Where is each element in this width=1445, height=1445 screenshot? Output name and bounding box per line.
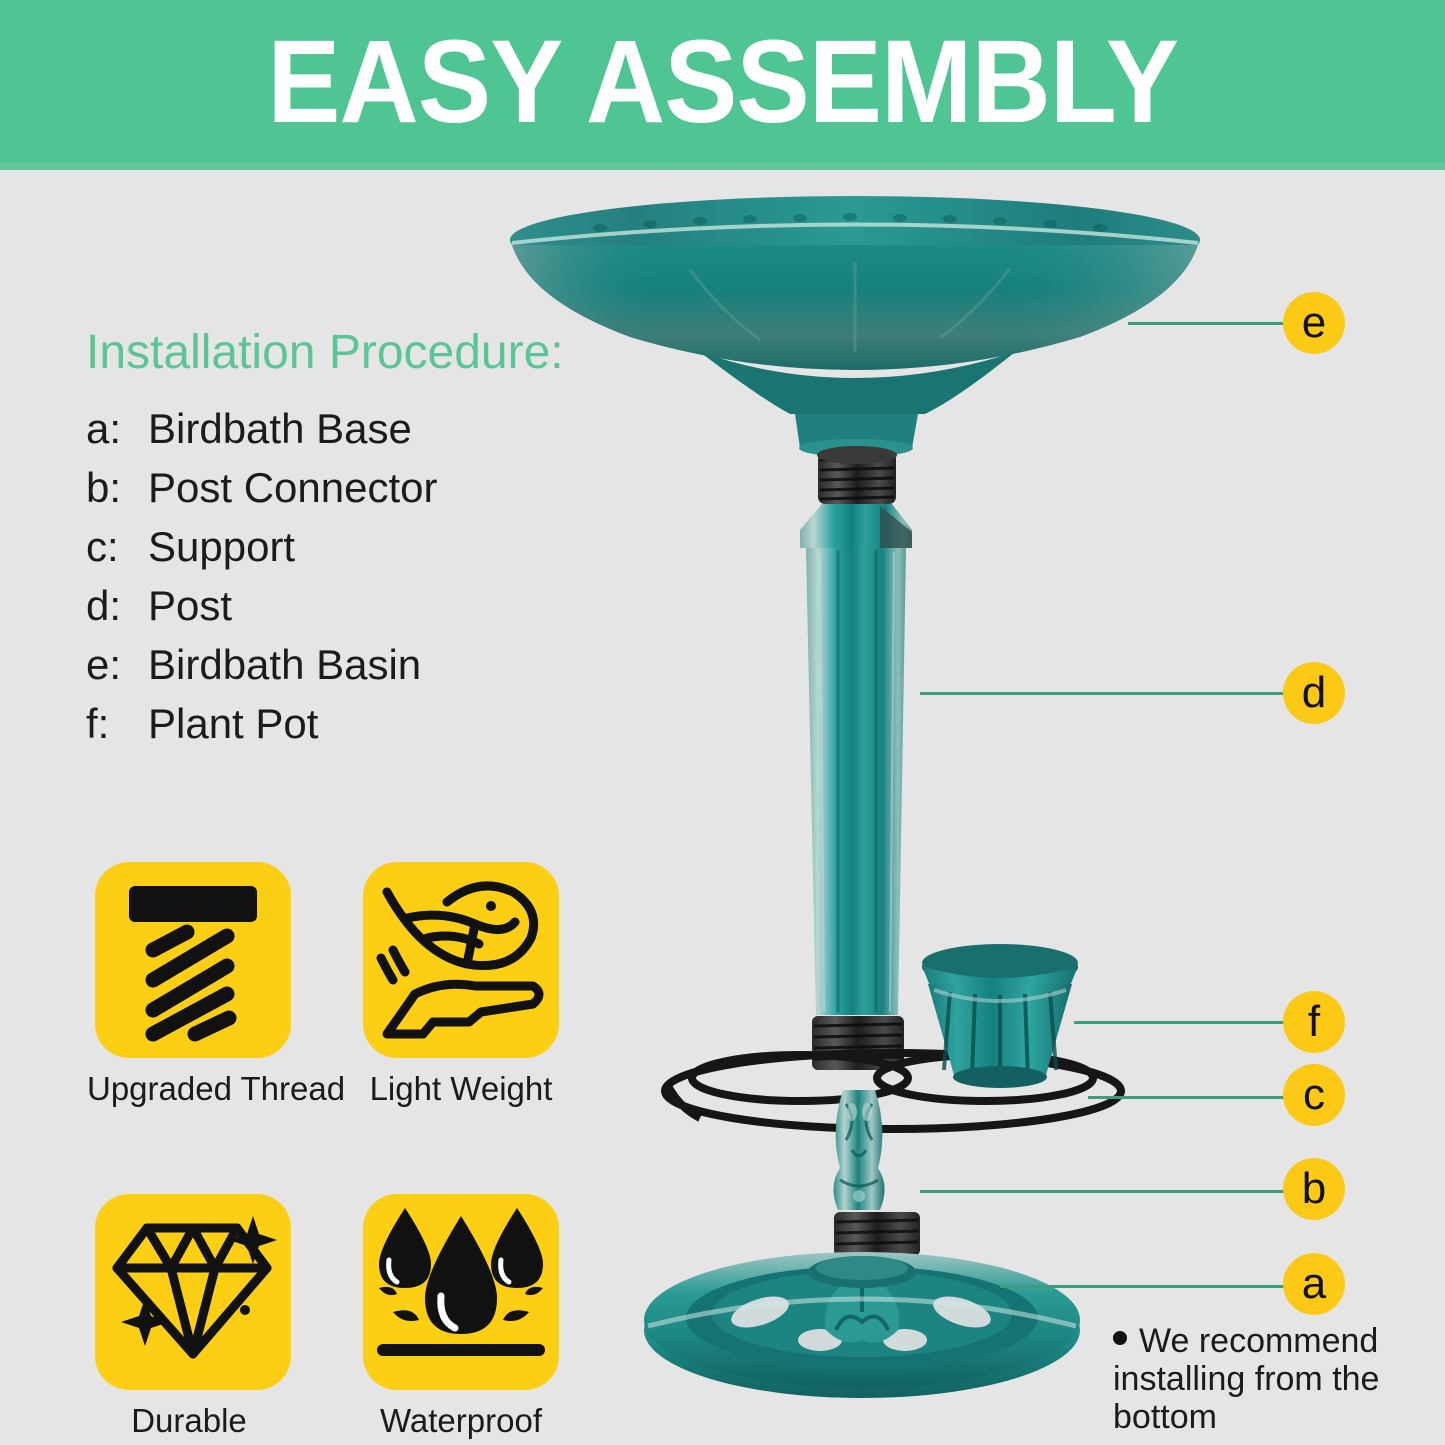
callout-badge-letter: c [1303,1073,1325,1117]
procedure-label: Plant Pot [148,700,318,748]
feature-label: Upgraded Thread [87,1070,291,1108]
feature-durable: Durable [95,1194,291,1440]
feature-light-weight: Light Weight [363,862,559,1108]
part-post-thread-bottom [812,1016,904,1070]
procedure-key: d: [80,582,148,630]
procedure-key: f: [80,700,148,748]
procedure-heading: Installation Procedure: [86,325,564,380]
feature-upgraded-thread: Upgraded Thread [95,862,291,1108]
part-plant-pot [922,944,1078,1088]
callout-line-c [1088,1096,1288,1099]
bullet-icon [1113,1331,1127,1345]
feature-label: Waterproof [363,1402,559,1440]
screw-thread-icon [95,862,291,1058]
callout-badge-a[interactable]: a [1283,1253,1345,1315]
procedure-label: Birdbath Basin [148,641,421,689]
part-post-connector [833,1090,920,1256]
procedure-label: Post [148,582,232,630]
feature-label: Light Weight [363,1070,559,1108]
feature-label: Durable [87,1402,291,1440]
callout-badge-letter: d [1302,671,1326,715]
feature-tile [363,1194,559,1390]
callout-line-d [920,692,1288,695]
header-underline [0,163,1445,170]
callout-line-f [1074,1021,1288,1024]
procedure-list: a: Birdbath Base b: Post Connector c: Su… [80,405,620,759]
feature-row-top: Upgraded Thread Light Weigh [95,862,585,1108]
feature-waterproof: Waterproof [363,1194,559,1440]
part-basin-thread [817,446,897,504]
callout-line-b [920,1190,1288,1193]
part-birdbath-base [644,1252,1080,1398]
procedure-key: c: [80,523,148,571]
water-droplets-icon [363,1194,559,1390]
feature-tile [95,862,291,1058]
feature-row-bottom: Durable [95,1194,585,1440]
callout-line-a [1000,1285,1288,1288]
procedure-item-e: e: Birdbath Basin [80,641,620,700]
recommendation-text: We recommend installing from the bottom [1113,1322,1379,1436]
procedure-label: Birdbath Base [148,405,412,453]
procedure-label: Support [148,523,295,571]
procedure-key: a: [80,405,148,453]
part-post [800,504,912,1015]
callout-badge-d[interactable]: d [1283,662,1345,724]
procedure-item-c: c: Support [80,523,620,582]
callout-badge-b[interactable]: b [1283,1158,1345,1220]
feature-tile [363,862,559,1058]
diamond-sparkle-icon [95,1194,291,1390]
procedure-label: Post Connector [148,464,438,512]
callout-badge-letter: f [1308,1000,1320,1044]
feather-on-hand-icon [363,862,559,1058]
page-title: EASY ASSEMBLY [267,23,1178,141]
callout-line-e [1128,322,1288,325]
callout-badge-c[interactable]: c [1283,1064,1345,1126]
recommendation-note: We recommend installing from the bottom [1113,1322,1443,1436]
procedure-item-d: d: Post [80,582,620,641]
procedure-key: b: [80,464,148,512]
procedure-item-a: a: Birdbath Base [80,405,620,464]
callout-badge-letter: a [1302,1262,1326,1306]
feature-tile [95,1194,291,1390]
procedure-item-b: b: Post Connector [80,464,620,523]
part-support-ring [665,1053,1121,1129]
callout-badge-letter: b [1302,1167,1326,1211]
procedure-item-f: f: Plant Pot [80,700,620,759]
feature-badges: Upgraded Thread Light Weigh [95,862,585,1440]
header-banner: EASY ASSEMBLY [0,0,1445,163]
callout-badge-e[interactable]: e [1283,292,1345,354]
callout-badge-f[interactable]: f [1283,991,1345,1053]
callout-badge-letter: e [1302,301,1326,345]
procedure-key: e: [80,641,148,689]
